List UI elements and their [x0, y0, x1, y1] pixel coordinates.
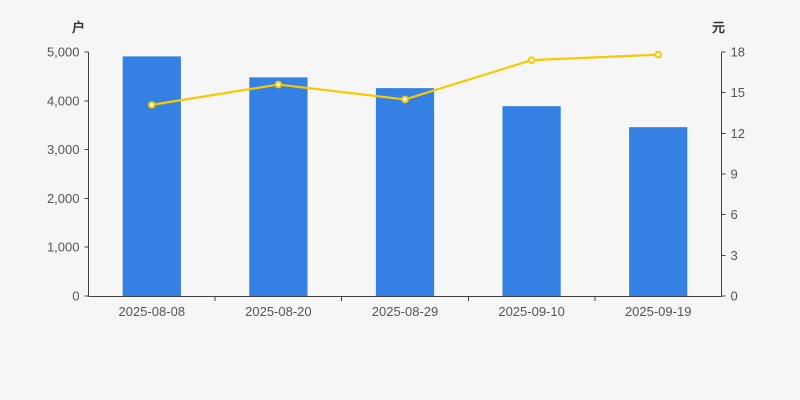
bar	[629, 127, 687, 296]
left-tick-label: 4,000	[47, 93, 80, 108]
left-axis-title: 户	[72, 20, 85, 36]
right-tick-label: 18	[731, 45, 745, 60]
right-tick-label: 15	[731, 85, 745, 100]
bar	[376, 88, 434, 296]
bar	[249, 77, 307, 296]
left-tick-label: 2,000	[47, 191, 80, 206]
line-point-marker	[655, 52, 661, 58]
line-point-marker	[276, 82, 282, 88]
x-axis-category-label: 2025-09-19	[625, 304, 692, 319]
left-tick-label: 5,000	[47, 45, 80, 60]
x-axis-category-label: 2025-08-29	[372, 304, 439, 319]
right-tick-label: 0	[731, 289, 738, 304]
right-tick-label: 3	[731, 248, 738, 263]
right-tick-label: 6	[731, 207, 738, 222]
x-axis-category-label: 2025-08-20	[245, 304, 312, 319]
left-tick-label: 3,000	[47, 142, 80, 157]
x-axis-category-label: 2025-09-10	[498, 304, 565, 319]
x-axis-category-label: 2025-08-08	[119, 304, 186, 319]
line-point-marker	[402, 97, 408, 103]
right-tick-label: 12	[731, 126, 745, 141]
left-tick-label: 0	[72, 289, 79, 304]
bar	[123, 56, 181, 296]
left-tick-label: 1,000	[47, 240, 80, 255]
line-point-marker	[149, 102, 155, 108]
right-tick-label: 9	[731, 167, 738, 182]
right-axis-title: 元	[712, 21, 725, 36]
bar	[502, 106, 560, 296]
chart-container: 户 元 01,0002,0003,0004,0005,000 036912151…	[0, 0, 800, 400]
dual-axis-bar-line-chart: 户 元 01,0002,0003,0004,0005,000 036912151…	[0, 0, 800, 400]
line-point-marker	[529, 57, 535, 63]
